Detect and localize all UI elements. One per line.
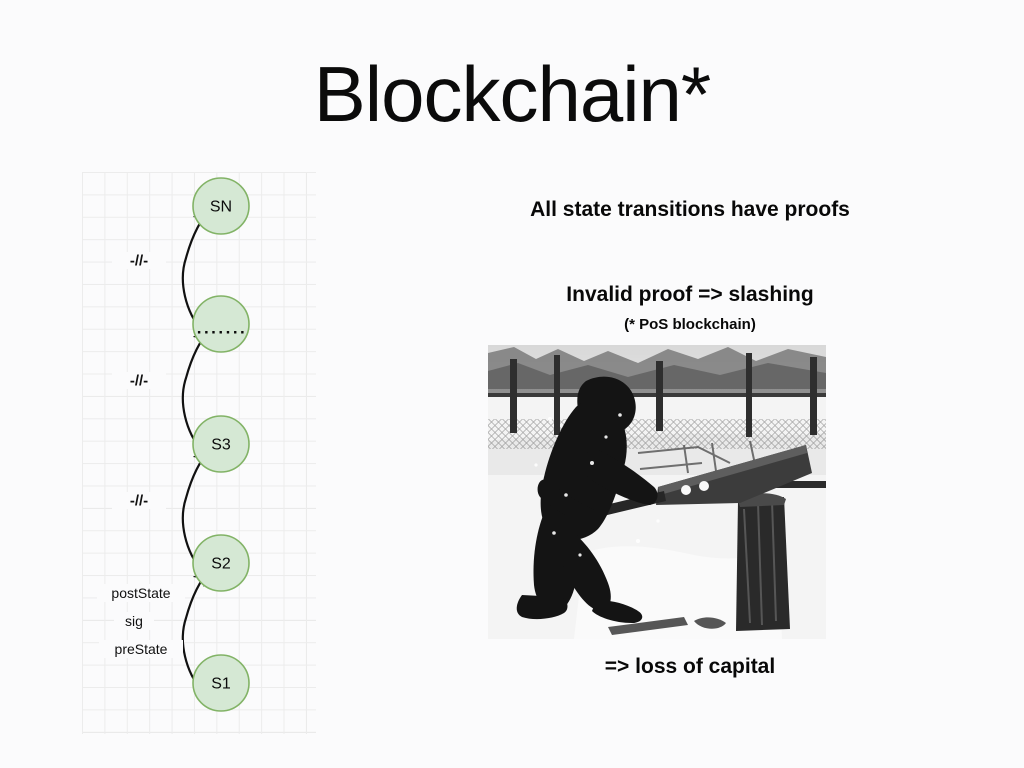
break-marker-2: -//-	[130, 373, 148, 390]
photo-person-sawing-log-in-snow	[488, 345, 826, 639]
node-s3-label: S3	[211, 437, 231, 454]
footnote-pos-blockchain: (* PoS blockchain)	[430, 316, 950, 333]
blockchain-chain-diagram: -//- -//- -//- postState sig preState SN…	[82, 172, 316, 734]
break-marker-group: -//- -//- -//-	[112, 252, 166, 510]
edge-label-post-state: postState	[111, 585, 170, 601]
node-group: SN ....... S3 S2 S1	[193, 178, 249, 711]
node-s2-label: S2	[211, 556, 231, 573]
page-title: Blockchain*	[0, 55, 1024, 133]
node-s1-label: S1	[211, 676, 231, 693]
photo-illustration	[488, 345, 826, 639]
chain-diagram-svg: -//- -//- -//- postState sig preState SN…	[82, 172, 316, 734]
edge-label-sig: sig	[125, 613, 143, 629]
edge-label-group: postState sig preState	[97, 584, 185, 658]
headline-invalid-proof: Invalid proof => slashing	[430, 283, 950, 307]
node-ellipsis-label: .......	[197, 319, 248, 338]
edge-label-pre-state: preState	[115, 641, 168, 657]
headline-state-transitions: All state transitions have proofs	[430, 198, 950, 222]
break-marker-3: -//-	[130, 493, 148, 510]
caption-loss-of-capital: => loss of capital	[430, 655, 950, 679]
node-sn-label: SN	[210, 199, 232, 216]
break-marker-1: -//-	[130, 253, 148, 270]
